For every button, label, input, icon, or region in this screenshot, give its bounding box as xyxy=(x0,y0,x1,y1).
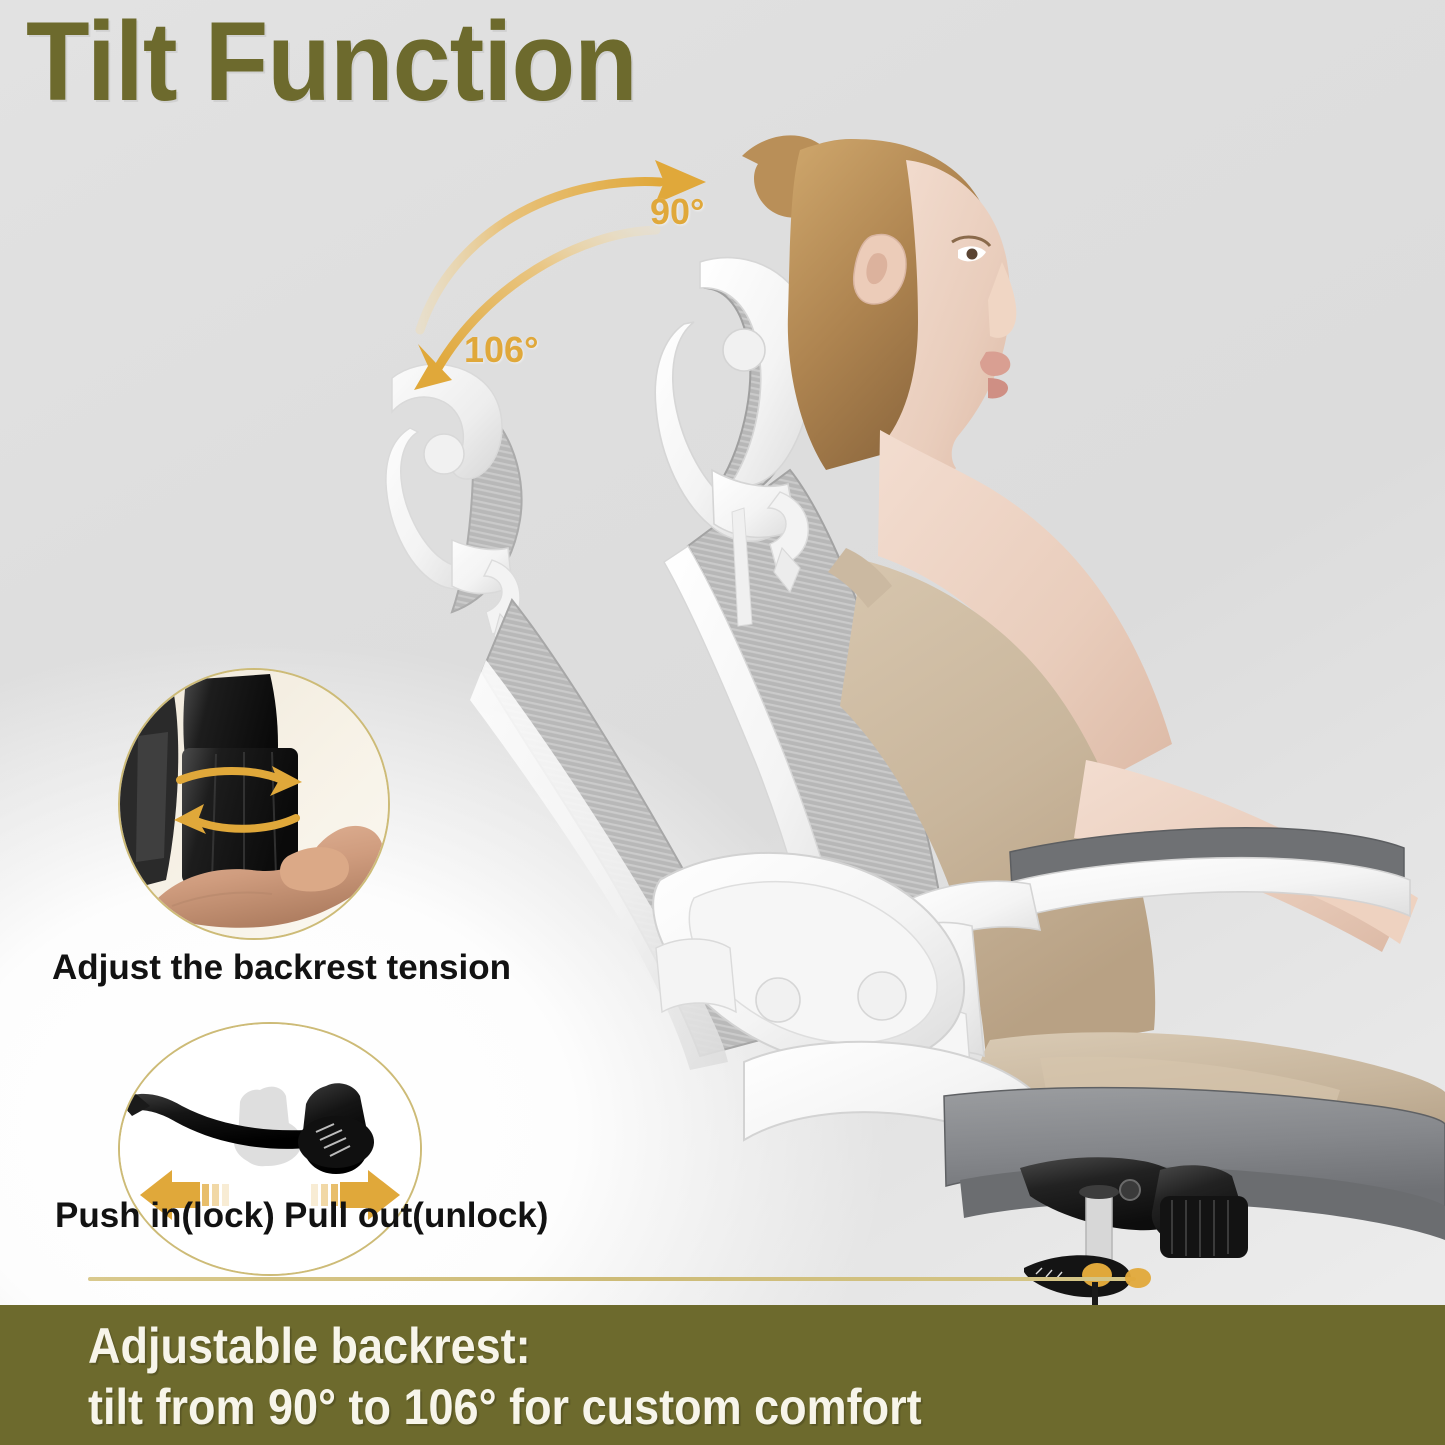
arrow-90-degrees xyxy=(420,160,706,330)
angle-label-106: 106° xyxy=(464,329,538,371)
page-title: Tilt Function xyxy=(26,0,637,128)
banner-divider-accent-dot xyxy=(1125,1268,1151,1288)
banner-line-2: tilt from 90° to 106° for custom comfort xyxy=(88,1378,922,1436)
callout-image-backrest-tension xyxy=(118,668,390,940)
chair-seat-cushion xyxy=(944,1088,1445,1240)
chair-tilt-mechanism-housing xyxy=(653,853,1046,1170)
callout-caption-backrest-tension: Adjust the backrest tension xyxy=(52,948,511,988)
infographic-canvas: Tilt Function 90° 106° xyxy=(0,0,1445,1445)
callout-caption-pull-out-unlock: Pull out(unlock) xyxy=(284,1196,548,1236)
chair-armrest xyxy=(862,828,1410,1098)
chair-backrest-upright xyxy=(655,258,950,1010)
banner-line-1: Adjustable backrest: xyxy=(88,1317,531,1375)
seated-person xyxy=(742,135,1445,1210)
banner-divider-line xyxy=(88,1277,1136,1281)
callout-caption-push-in-lock: Push in(lock) xyxy=(55,1196,275,1236)
angle-label-90: 90° xyxy=(650,191,704,233)
callout-image-tilt-lever xyxy=(118,1022,422,1276)
